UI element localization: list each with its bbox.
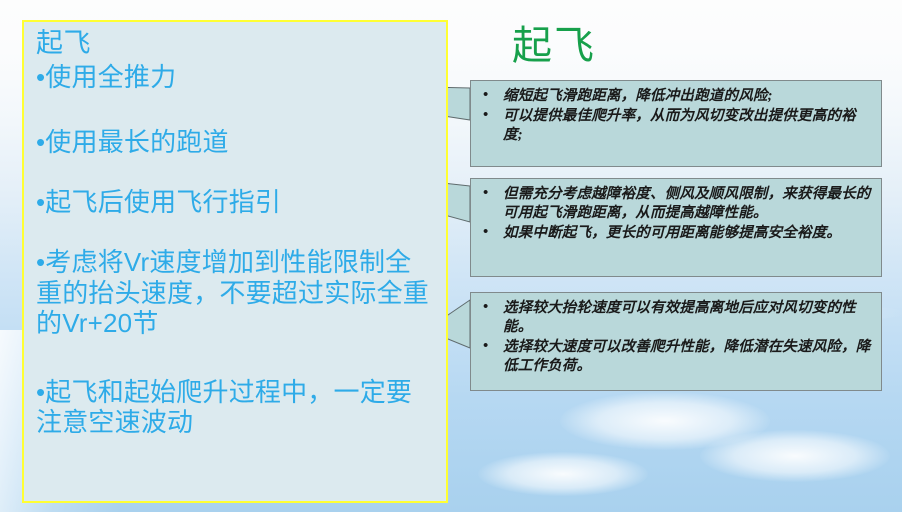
callout-2-list: 但需充分考虑越障裕度、侧风及顺风限制，来获得最长的可用起飞滑跑距离，从而提高越障…: [477, 185, 873, 243]
left-panel-bullet-3: •起飞后使用飞行指引: [36, 187, 436, 217]
callout-box-2: 但需充分考虑越障裕度、侧风及顺风限制，来获得最长的可用起飞滑跑距离，从而提高越障…: [470, 178, 882, 277]
spacer: [36, 93, 436, 123]
callout-3-item-2: 选择较大速度可以改善爬升性能，降低潜在失速风险，降低工作负荷。: [477, 338, 873, 376]
left-panel-bullet-2: •使用最长的跑道: [36, 127, 436, 157]
callout-1-list: 缩短起飞滑跑距离，降低冲出跑道的风险; 可以提供最佳爬升率，从而为风切变改出提供…: [477, 87, 873, 145]
spacer: [36, 217, 436, 243]
left-content-panel: 起飞 •使用全推力 •使用最长的跑道 •起飞后使用飞行指引 •考虑将Vr速度增加…: [22, 20, 448, 503]
callout-box-3: 选择较大抬轮速度可以有效提高离地后应对风切变的性能。 选择较大速度可以改善爬升性…: [470, 292, 882, 391]
left-panel-heading: 起飞: [36, 28, 436, 58]
left-panel-bullet-5: •起飞和起始爬升过程中，一定要注意空速波动: [36, 377, 436, 438]
slide-canvas: 起飞 •使用全推力 •使用最长的跑道 •起飞后使用飞行指引 •考虑将Vr速度增加…: [0, 0, 902, 512]
callout-3-item-1: 选择较大抬轮速度可以有效提高离地后应对风切变的性能。: [477, 299, 873, 337]
slide-title: 起飞: [512, 24, 596, 68]
callout-box-1: 缩短起飞滑跑距离，降低冲出跑道的风险; 可以提供最佳爬升率，从而为风切变改出提供…: [470, 80, 882, 167]
callout-3-list: 选择较大抬轮速度可以有效提高离地后应对风切变的性能。 选择较大速度可以改善爬升性…: [477, 299, 873, 375]
left-panel-bullet-1: •使用全推力: [36, 62, 436, 92]
callout-1-item-1: 缩短起飞滑跑距离，降低冲出跑道的风险;: [477, 87, 873, 106]
spacer: [36, 157, 436, 183]
callout-1-item-2: 可以提供最佳爬升率，从而为风切变改出提供更高的裕度;: [477, 107, 873, 145]
left-panel-bullet-4: •考虑将Vr速度增加到性能限制全重的抬头速度，不要超过实际全重的Vr+20节: [36, 247, 436, 338]
callout-2-item-2: 如果中断起飞，更长的可用距离能够提高安全裕度。: [477, 224, 873, 243]
callout-2-item-1: 但需充分考虑越障裕度、侧风及顺风限制，来获得最长的可用起飞滑跑距离，从而提高越障…: [477, 185, 873, 223]
spacer: [36, 339, 436, 373]
